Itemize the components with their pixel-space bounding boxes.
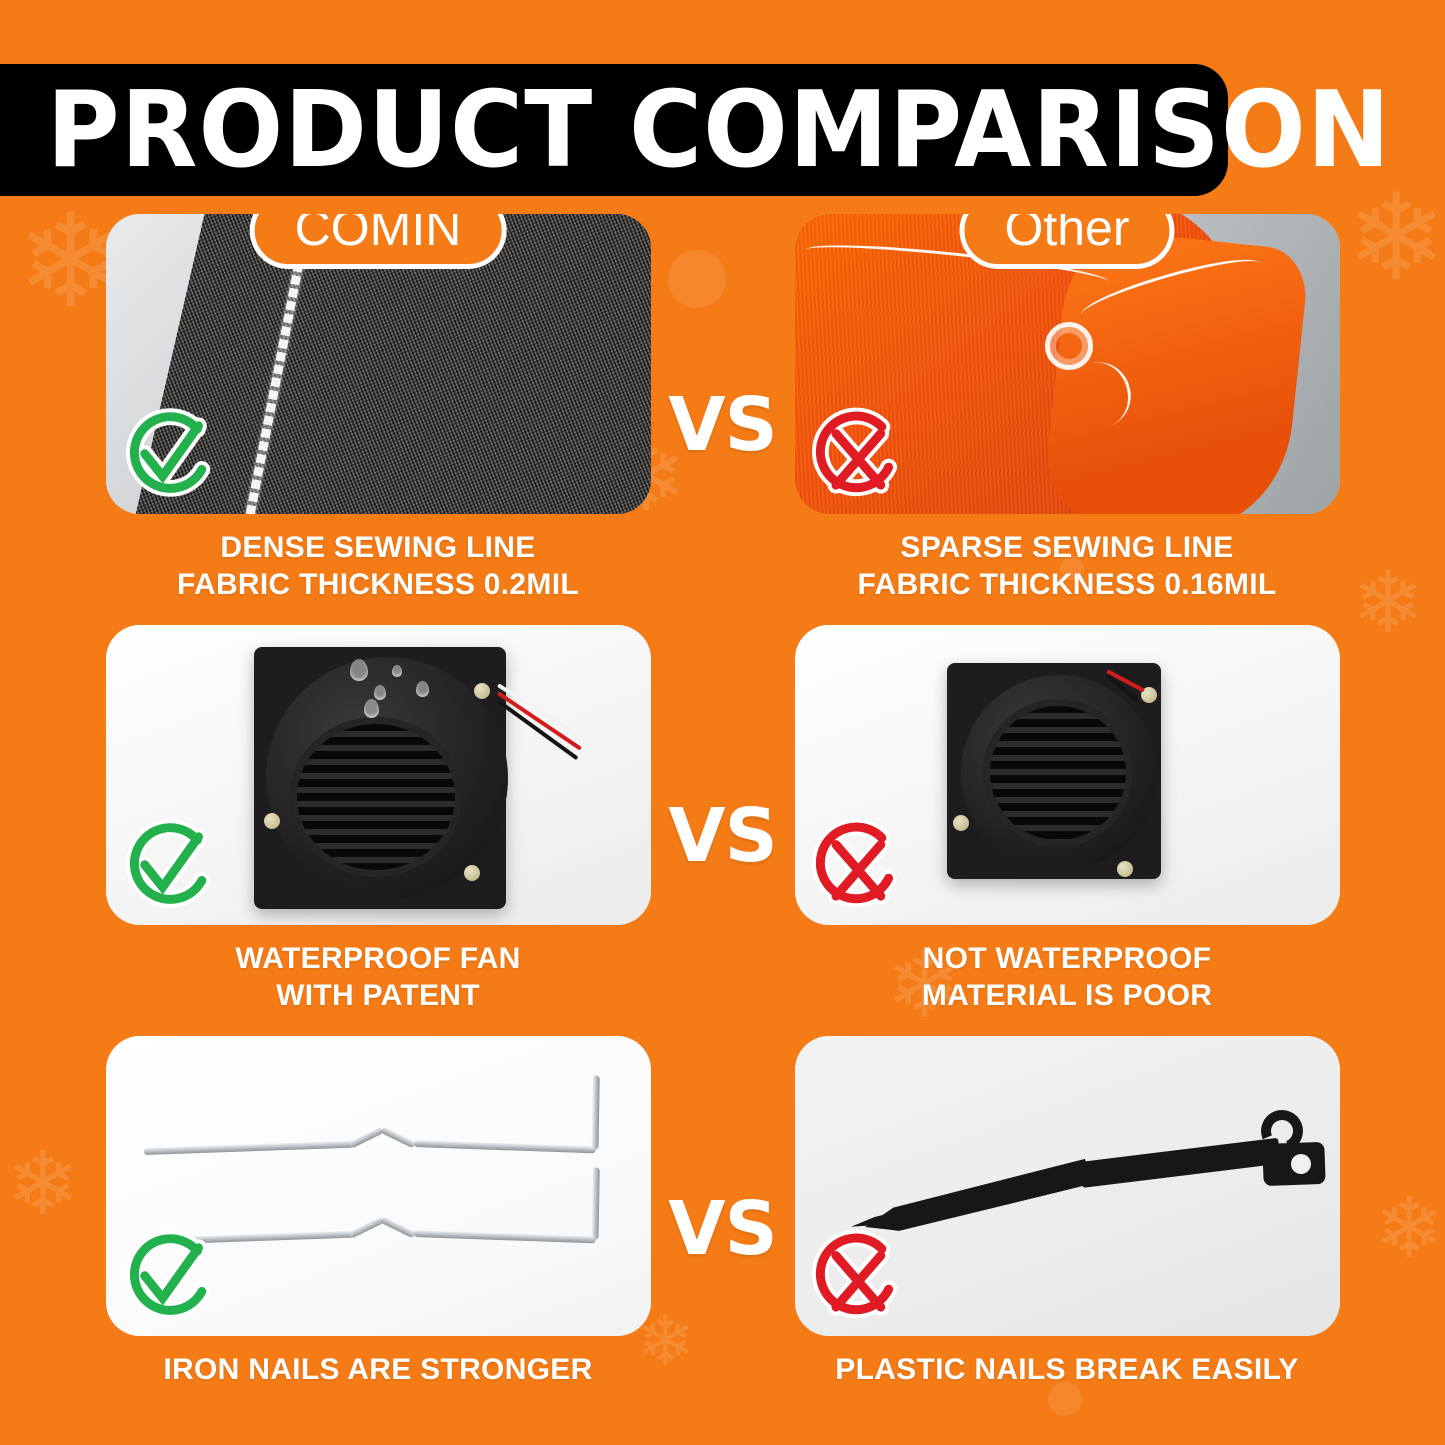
caption-line: WATERPROOF FAN (235, 941, 520, 978)
cross-circle-icon (799, 1222, 911, 1334)
plastic-ground-stake-photo (795, 1036, 1340, 1336)
sparse-sewing-fabric-photo: Other (795, 214, 1340, 514)
iron-ground-stakes-photo (106, 1036, 651, 1336)
caption-comin-nails: IRON NAILS ARE STRONGER (163, 1352, 592, 1389)
caption-line: DENSE SEWING LINE (177, 530, 579, 567)
waterproof-blower-fan-photo (106, 625, 651, 925)
brand-label-comin: COMIN (250, 214, 507, 269)
comparison-row-nails: IRON NAILS ARE STRONGER VS (0, 1036, 1445, 1389)
caption-other-nails: PLASTIC NAILS BREAK EASILY (835, 1352, 1298, 1389)
cross-circle-icon (799, 811, 911, 923)
caption-other-sewing: SPARSE SEWING LINE FABRIC THICKNESS 0.16… (858, 530, 1277, 603)
comparison-cell-comin-nails: IRON NAILS ARE STRONGER (68, 1036, 688, 1389)
caption-comin-fan: WATERPROOF FAN WITH PATENT (235, 941, 520, 1014)
caption-line: FABRIC THICKNESS 0.2MIL (177, 567, 579, 604)
comparison-cell-comin-fan: WATERPROOF FAN WITH PATENT (68, 625, 688, 1014)
check-circle-icon (110, 811, 222, 923)
caption-line: IRON NAILS ARE STRONGER (163, 1352, 592, 1389)
comparison-cell-other-nails: PLASTIC NAILS BREAK EASILY (757, 1036, 1377, 1389)
title-banner: PRODUCT COMPARISON (0, 64, 1228, 196)
non-waterproof-blower-fan-photo (795, 625, 1340, 925)
comparison-grid: COMIN DENSE SEWING LINE FABRIC THICKNESS… (0, 214, 1445, 1411)
brand-label-other: Other (959, 214, 1174, 269)
caption-line: SPARSE SEWING LINE (858, 530, 1277, 567)
caption-line: PLASTIC NAILS BREAK EASILY (835, 1352, 1298, 1389)
comparison-cell-other-fan: NOT WATERPROOF MATERIAL IS POOR (757, 625, 1377, 1014)
caption-comin-sewing: DENSE SEWING LINE FABRIC THICKNESS 0.2MI… (177, 530, 579, 603)
vs-divider-label: VS (668, 382, 777, 468)
page-title: PRODUCT COMPARISON (0, 69, 1391, 191)
cross-circle-icon (799, 400, 911, 512)
comparison-cell-other-sewing: Other SPARSE SEWING LINE FABRIC THICKNES… (757, 214, 1377, 603)
check-circle-icon (110, 1222, 222, 1334)
caption-line: MATERIAL IS POOR (922, 978, 1212, 1015)
dense-sewing-fabric-photo: COMIN (106, 214, 651, 514)
caption-line: NOT WATERPROOF (922, 941, 1212, 978)
caption-other-fan: NOT WATERPROOF MATERIAL IS POOR (922, 941, 1212, 1014)
comparison-row-fan: WATERPROOF FAN WITH PATENT VS (0, 625, 1445, 1014)
comparison-row-sewing: COMIN DENSE SEWING LINE FABRIC THICKNESS… (0, 214, 1445, 603)
check-circle-icon (110, 400, 222, 512)
comparison-cell-comin-sewing: COMIN DENSE SEWING LINE FABRIC THICKNESS… (68, 214, 688, 603)
caption-line: FABRIC THICKNESS 0.16MIL (858, 567, 1277, 604)
vs-divider-label: VS (668, 793, 777, 879)
vs-divider-label: VS (668, 1186, 777, 1272)
caption-line: WITH PATENT (235, 978, 520, 1015)
